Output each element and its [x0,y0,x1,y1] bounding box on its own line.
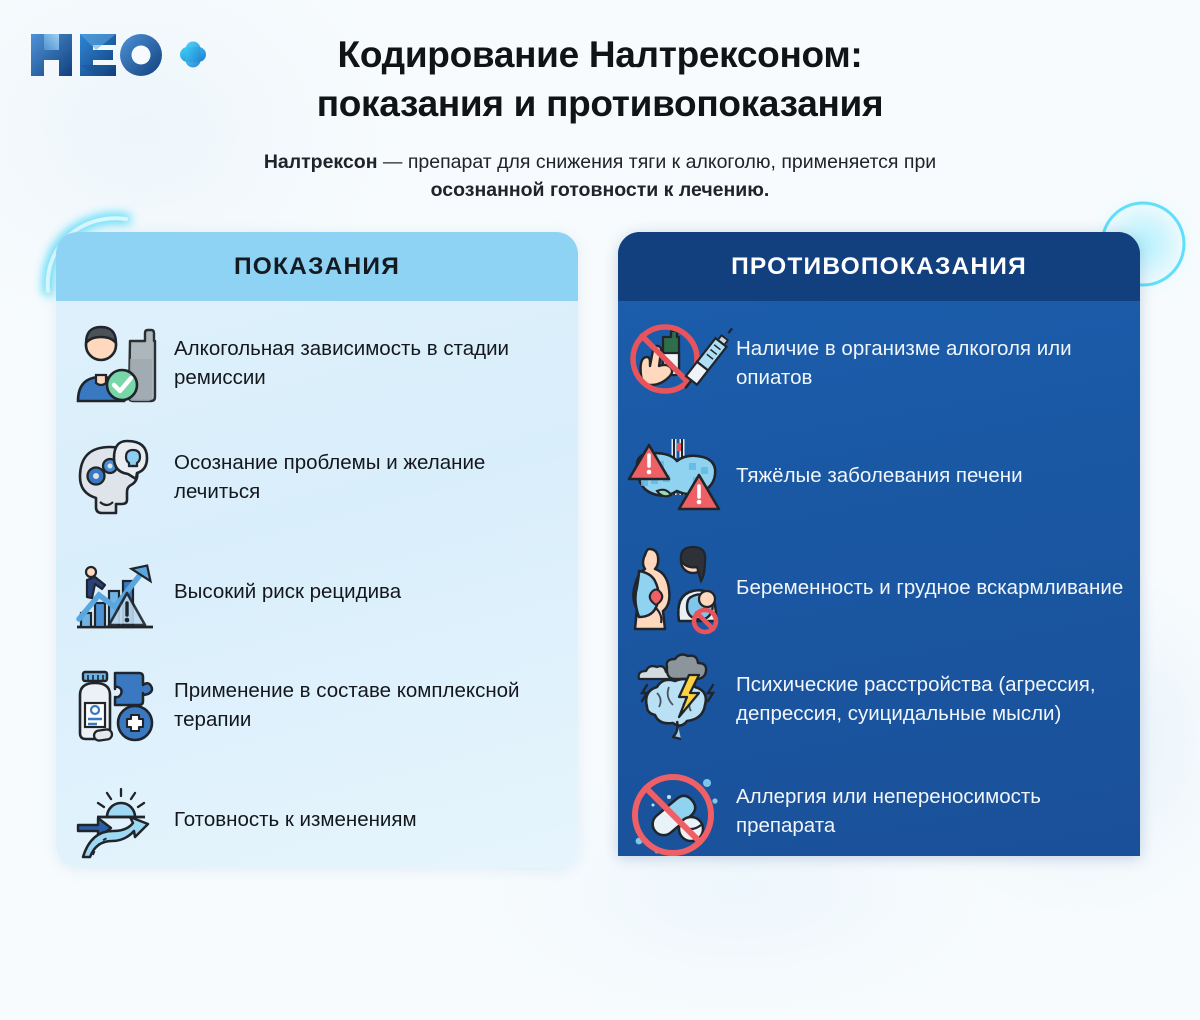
subtitle-lead: Налтрексон [264,151,378,173]
contraindications-list: Наличие в организме алкоголя или опиатов [618,301,1140,856]
brain-storm-cloud-icon [618,651,736,747]
page-title: Кодирование Налтрексоном: показания и пр… [200,30,1000,128]
indications-list: Алкогольная зависимость в стадии ремисси… [56,301,578,867]
list-item-label: Наличие в организме алкоголя или опиатов [736,334,1140,392]
list-item-label: Тяжёлые заболевания печени [736,461,1037,490]
list-item-label: Алкогольная зависимость в стадии ремисси… [174,334,578,392]
list-item: Готовность к изменениям [56,771,578,867]
subtitle-bold: осознанной готовности к лечению. [431,179,770,201]
page-title-line2: показания и противопоказания [200,79,1000,128]
list-item-label: Психические расстройства (агрессия, депр… [736,670,1140,728]
brand-logo [28,26,208,84]
pregnancy-breastfeeding-icon [618,539,736,635]
no-pills-allergy-icon [618,763,736,856]
list-item: Беременность и грудное вскармливание [618,539,1140,635]
contraindications-card: ПРОТИВОПОКАЗАНИЯ [618,232,1140,856]
list-item: Высокий риск рецидива [56,543,578,639]
list-item-label: Беременность и грудное вскармливание [736,573,1137,602]
list-item: Психические расстройства (агрессия, депр… [618,651,1140,747]
indications-heading: ПОКАЗАНИЯ [56,232,578,301]
list-item-label: Высокий риск рецидива [174,577,415,606]
list-item: Аллергия или непереносимость препарата [618,763,1140,856]
sunrise-road-arrow-icon [56,771,174,867]
list-item: Осознание проблемы и желание лечиться [56,429,578,525]
indications-card: ПОКАЗАНИЯ Алкогольная зависимость в стад… [56,232,578,868]
list-item: Наличие в организме алкоголя или опиатов [618,315,1140,411]
list-item: Алкогольная зависимость в стадии ремисси… [56,315,578,411]
no-alcohol-syringe-icon [618,315,736,411]
page-subtitle: Налтрексон — препарат для снижения тяги … [210,148,990,204]
risk-growth-chart-icon [56,543,174,639]
person-bottle-check-icon [56,315,174,411]
page-title-line1: Кодирование Налтрексоном: [200,30,1000,79]
logo-heo-plus-icon [28,26,208,84]
contraindications-heading: ПРОТИВОПОКАЗАНИЯ [618,232,1140,301]
head-gears-idea-icon [56,429,174,525]
list-item-label: Готовность к изменениям [174,805,431,834]
liver-warning-icon [618,427,736,523]
list-item-label: Осознание проблемы и желание лечиться [174,448,578,506]
list-item-label: Аллергия или непереносимость препарата [736,782,1140,840]
list-item-label: Применение в составе комплексной терапии [174,676,578,734]
list-item: Тяжёлые заболевания печени [618,427,1140,523]
subtitle-mid: — препарат для снижения тяги к алкоголю,… [377,151,936,173]
pill-bottle-puzzle-plus-icon [56,657,174,753]
list-item: Применение в составе комплексной терапии [56,657,578,753]
